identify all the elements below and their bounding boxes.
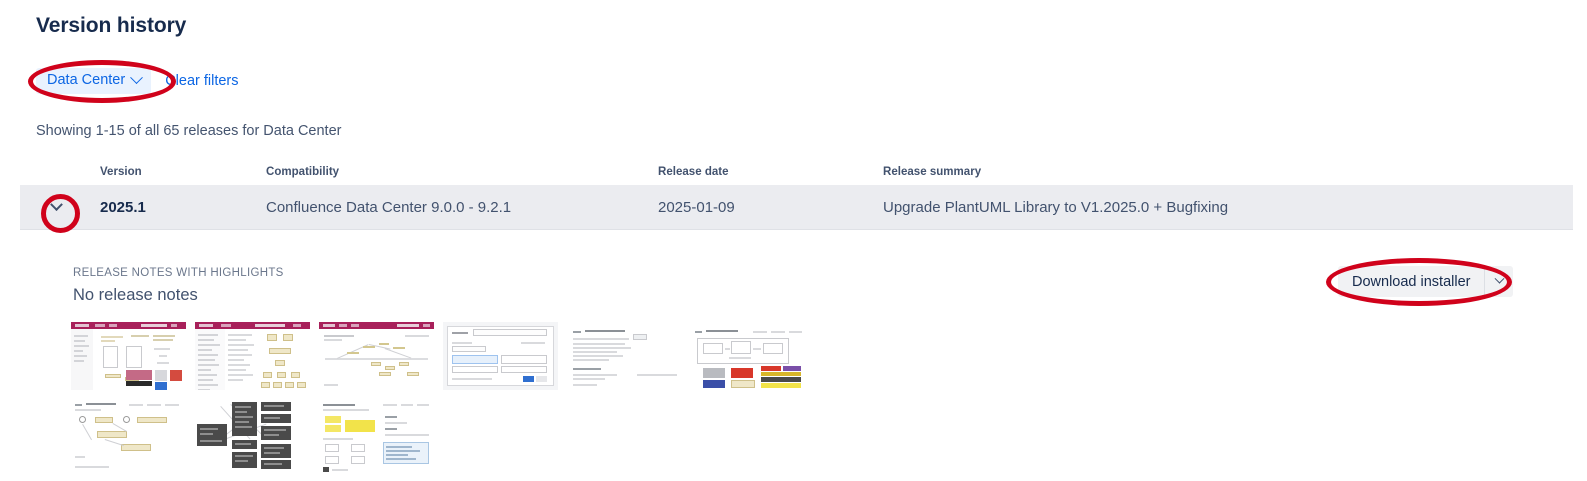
clear-filters-link[interactable]: Clear filters bbox=[165, 73, 238, 89]
cell-compatibility: Confluence Data Center 9.0.0 - 9.2.1 bbox=[266, 199, 658, 216]
thumb-titlebar bbox=[319, 322, 434, 329]
column-header-release-summary: Release summary bbox=[883, 166, 1573, 178]
table-header-row: Version Compatibility Release date Relea… bbox=[20, 158, 1573, 186]
version-history-page: Version history Data Center Clear filter… bbox=[0, 0, 1587, 481]
thumb-titlebar bbox=[195, 322, 310, 329]
thumbnail-2[interactable] bbox=[195, 322, 310, 390]
cell-release-date: 2025-01-09 bbox=[658, 199, 883, 216]
thumb-titlebar bbox=[71, 322, 186, 329]
thumbnail-9[interactable] bbox=[319, 398, 434, 474]
thumb-sidebar bbox=[71, 329, 93, 390]
row-expand-toggle-button[interactable] bbox=[44, 196, 68, 220]
release-notes-body: No release notes bbox=[73, 286, 198, 305]
releases-table: Version Compatibility Release date Relea… bbox=[20, 158, 1573, 230]
thumb-sidebar bbox=[195, 329, 225, 390]
thumbnail-1[interactable] bbox=[71, 322, 186, 390]
column-header-version: Version bbox=[100, 166, 266, 178]
release-notes-label: RELEASE NOTES WITH HIGHLIGHTS bbox=[73, 267, 284, 279]
download-options-button[interactable] bbox=[1485, 266, 1513, 297]
row-toggle-cell bbox=[20, 196, 100, 220]
filter-product-dropdown[interactable]: Data Center bbox=[36, 68, 151, 94]
download-installer-button[interactable]: Download installer bbox=[1338, 266, 1485, 297]
thumbnail-6[interactable] bbox=[691, 322, 806, 390]
thumbnail-4[interactable] bbox=[443, 322, 558, 390]
page-title: Version history bbox=[36, 14, 186, 38]
column-header-compatibility: Compatibility bbox=[266, 166, 658, 178]
chevron-down-icon bbox=[1495, 274, 1505, 284]
results-summary-text: Showing 1-15 of all 65 releases for Data… bbox=[36, 123, 341, 139]
screenshot-gallery bbox=[71, 322, 791, 481]
table-row[interactable]: 2025.1 Confluence Data Center 9.0.0 - 9.… bbox=[20, 186, 1573, 230]
thumbnail-3[interactable] bbox=[319, 322, 434, 390]
filter-bar: Data Center Clear filters bbox=[36, 68, 239, 94]
chevron-down-icon bbox=[130, 71, 143, 84]
thumbnail-8[interactable] bbox=[195, 398, 310, 474]
gallery-row-2 bbox=[71, 398, 791, 474]
column-header-release-date: Release date bbox=[658, 166, 883, 178]
download-split-button: Download installer bbox=[1338, 266, 1513, 297]
cell-version: 2025.1 bbox=[100, 199, 266, 216]
chevron-down-icon bbox=[50, 198, 63, 211]
thumbnail-5[interactable] bbox=[567, 322, 682, 390]
thumbnail-7[interactable] bbox=[71, 398, 186, 474]
gallery-row-1 bbox=[71, 322, 791, 390]
filter-product-label: Data Center bbox=[47, 73, 125, 88]
cell-release-summary: Upgrade PlantUML Library to V1.2025.0 + … bbox=[883, 199, 1573, 216]
